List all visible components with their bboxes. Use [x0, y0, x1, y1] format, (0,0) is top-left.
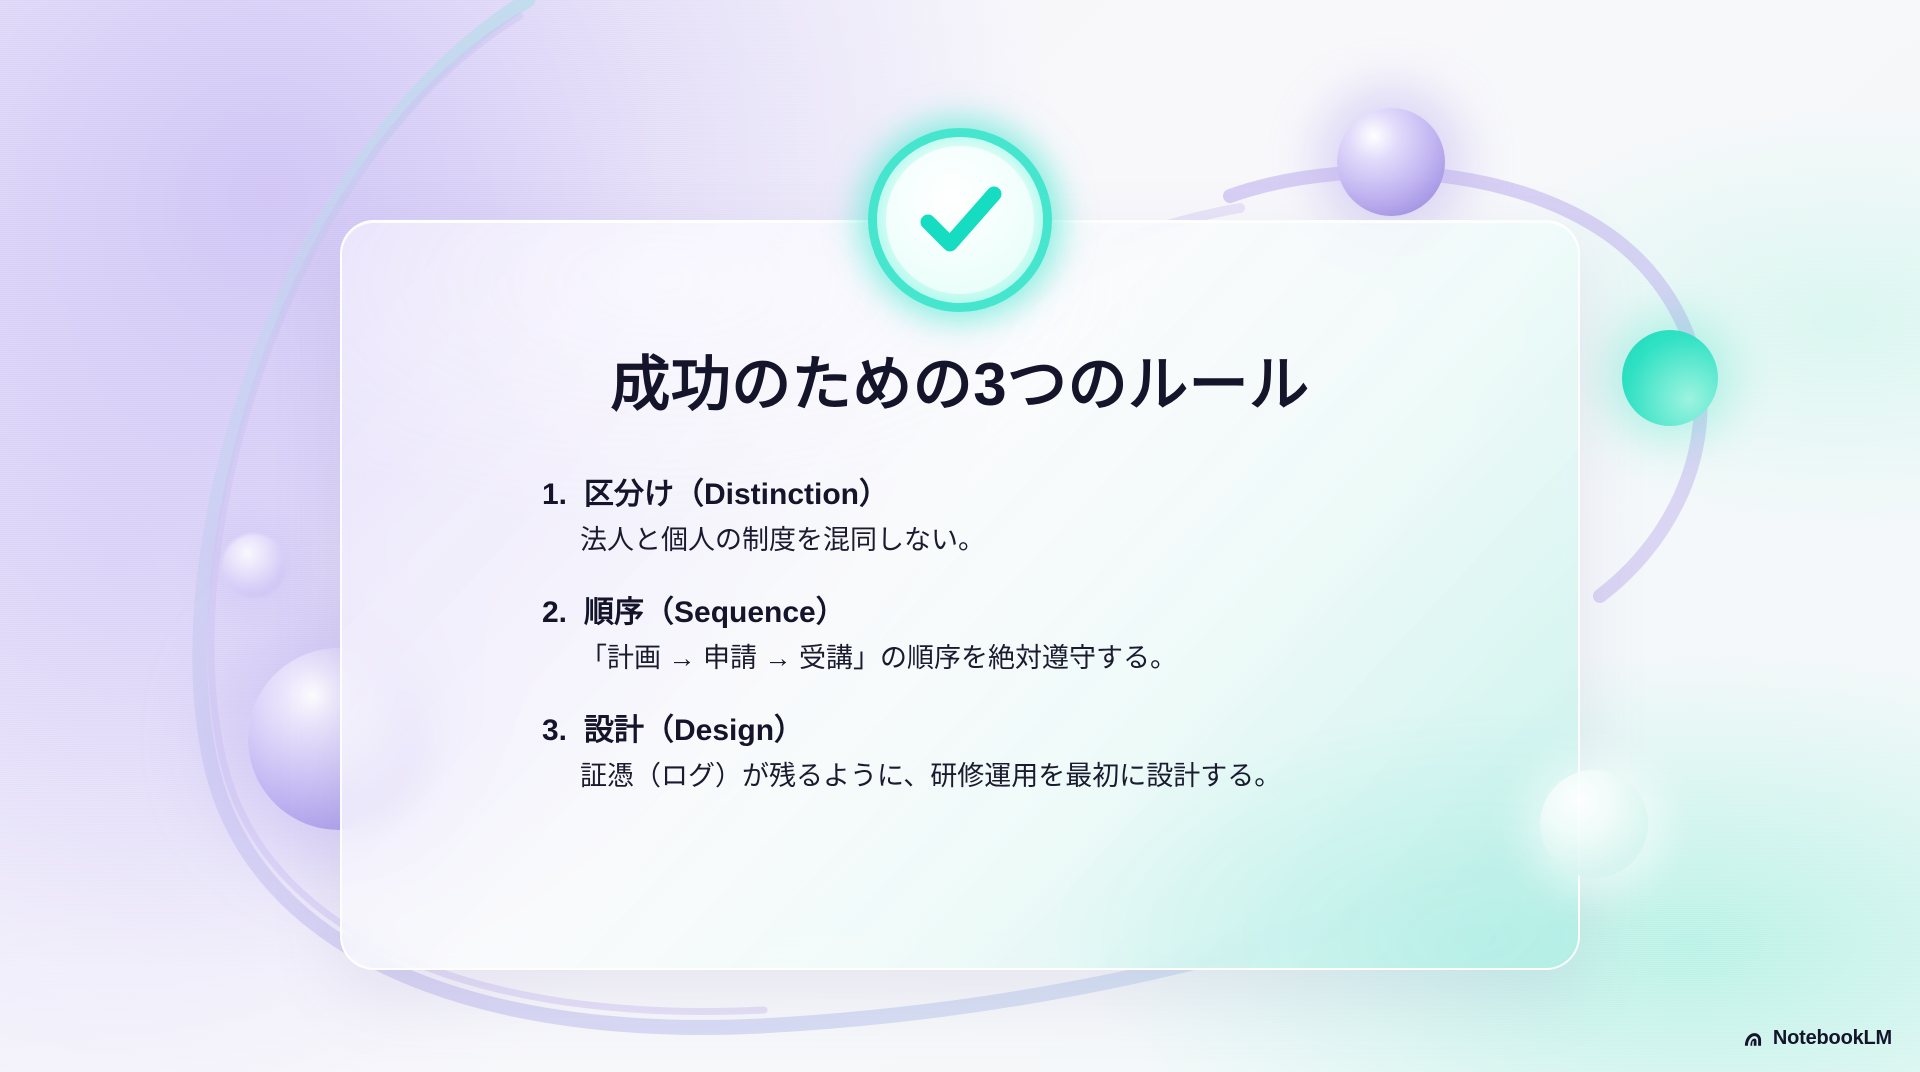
- rule-number: 1.: [542, 473, 580, 517]
- brand-name: NotebookLM: [1773, 1027, 1892, 1050]
- list-item: 1. 区分け（Distinction） 法人と個人の制度を混同しない。: [542, 473, 1482, 561]
- checkmark-icon: [908, 168, 1012, 272]
- list-item: 3. 設計（Design） 証憑（ログ）が残るように、研修運用を最初に設計する。: [542, 709, 1482, 797]
- rule-detail: 法人と個人の制度を混同しない。: [580, 520, 1482, 561]
- rule-title: 順序（Sequence）: [584, 591, 846, 635]
- rule-title: 区分け（Distinction）: [584, 473, 889, 517]
- rule-heading-row: 3. 設計（Design）: [542, 709, 1482, 753]
- decor-sphere-teal: [1622, 330, 1718, 426]
- decor-sphere-white: [1540, 770, 1648, 878]
- rule-number: 2.: [542, 591, 580, 635]
- decor-sphere-purple-top: [1337, 108, 1445, 216]
- badge-inner: [886, 146, 1034, 294]
- rule-number: 3.: [542, 709, 580, 753]
- rule-title: 設計（Design）: [584, 709, 804, 753]
- rules-list: 1. 区分け（Distinction） 法人と個人の制度を混同しない。 2. 順…: [438, 473, 1482, 797]
- slide-root: 成功のための3つのルール 1. 区分け（Distinction） 法人と個人の制…: [0, 0, 1920, 1072]
- rule-detail: 証憑（ログ）が残るように、研修運用を最初に設計する。: [580, 756, 1482, 797]
- rule-detail: 「計画 → 申請 → 受講」の順序を絶対遵守する。: [580, 638, 1482, 679]
- decor-sphere-purple-small: [222, 534, 286, 598]
- notebooklm-logo-icon: [1742, 1028, 1764, 1050]
- rule-heading-row: 1. 区分け（Distinction）: [542, 473, 1482, 517]
- page-title: 成功のための3つのルール: [438, 350, 1482, 421]
- check-circle-icon: [846, 106, 1074, 334]
- list-item: 2. 順序（Sequence） 「計画 → 申請 → 受講」の順序を絶対遵守する…: [542, 591, 1482, 679]
- rule-heading-row: 2. 順序（Sequence）: [542, 591, 1482, 635]
- brand-footer: NotebookLM: [1742, 1027, 1892, 1050]
